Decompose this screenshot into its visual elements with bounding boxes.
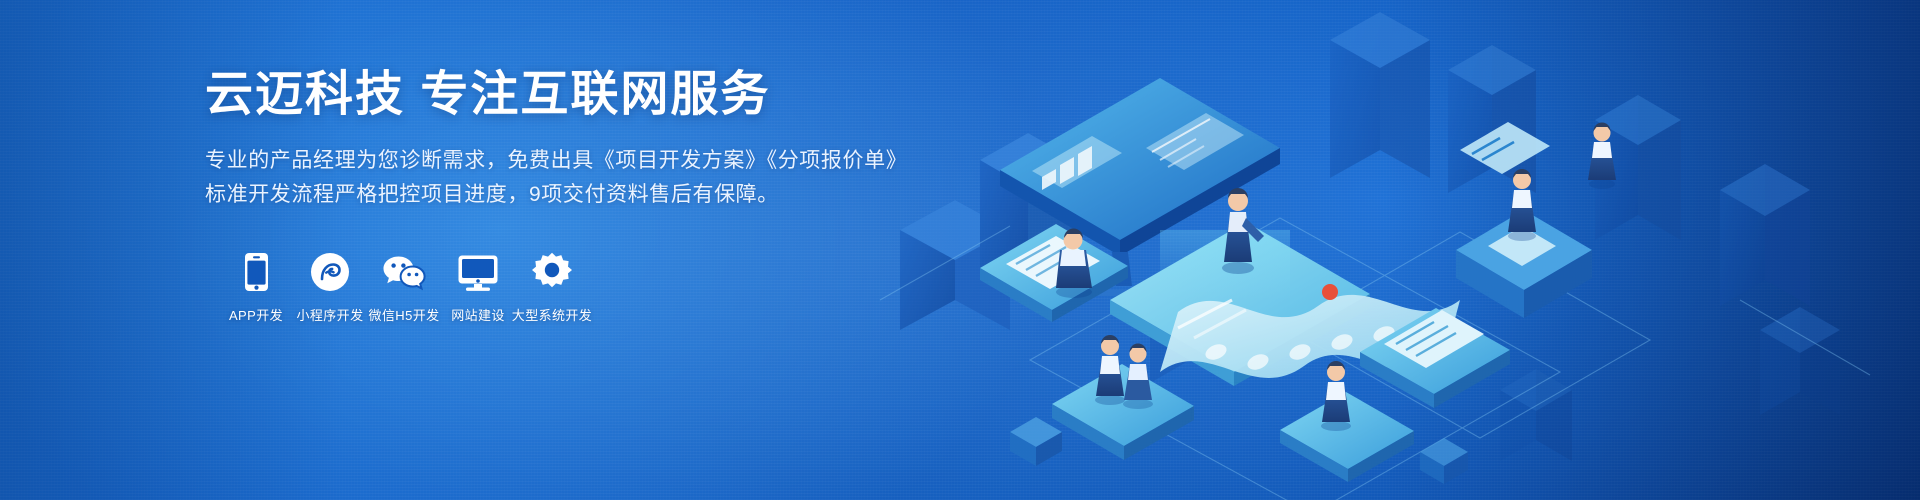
service-label-wechat: 微信H5开发 <box>368 305 439 324</box>
hero-copy: 云迈科技 专注互联网服务 专业的产品经理为您诊断需求，免费出具《项目开发方案》《… <box>205 68 925 324</box>
subtitle-line-2: 标准开发流程严格把控项目进度，9项交付资料售后有保障。 <box>205 178 925 212</box>
accent-dot <box>1322 284 1338 300</box>
lower-left-platform <box>1052 364 1194 460</box>
mini-program-icon <box>305 248 355 292</box>
subtitle-block: 专业的产品经理为您诊断需求，免费出具《项目开发方案》《分项报价单》 标准开发流程… <box>205 144 925 212</box>
page-title: 云迈科技 专注互联网服务 <box>205 68 925 122</box>
service-label-website: 网站建设 <box>451 305 505 324</box>
service-label-app: APP开发 <box>229 305 283 324</box>
service-label-miniprogram: 小程序开发 <box>296 305 363 324</box>
service-item-app[interactable]: APP开发 <box>219 248 293 324</box>
wechat-icon <box>379 248 429 292</box>
service-list: APP开发 小程序开发 <box>219 248 925 324</box>
hero-banner: 云迈科技 专注互联网服务 专业的产品经理为您诊断需求，免费出具《项目开发方案》《… <box>0 0 1920 500</box>
mobile-phone-icon <box>231 248 281 292</box>
service-item-website[interactable]: 网站建设 <box>441 248 515 324</box>
isometric-team-dashboard-illustration <box>860 0 1920 500</box>
desktop-monitor-icon <box>453 248 503 292</box>
service-item-miniprogram[interactable]: 小程序开发 <box>293 248 367 324</box>
gear-icon <box>527 248 577 292</box>
illustration-container <box>860 0 1920 500</box>
service-item-system[interactable]: 大型系统开发 <box>515 248 589 324</box>
service-item-wechat[interactable]: 微信H5开发 <box>367 248 441 324</box>
subtitle-line-1: 专业的产品经理为您诊断需求，免费出具《项目开发方案》《分项报价单》 <box>205 144 925 178</box>
service-label-system: 大型系统开发 <box>512 305 592 324</box>
